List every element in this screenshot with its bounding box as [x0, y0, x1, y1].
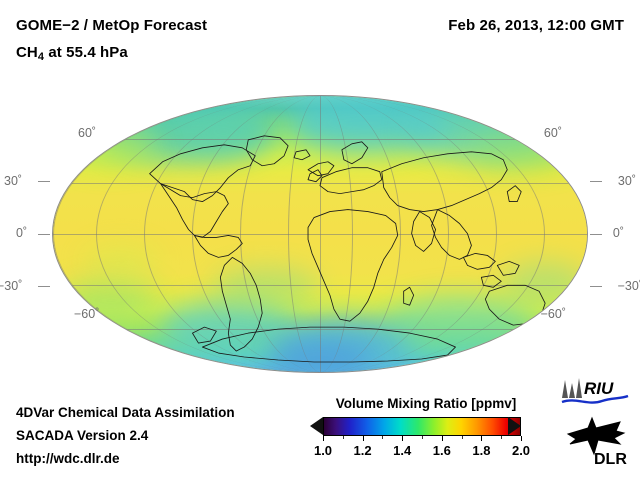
colorbar-ticks: [323, 436, 521, 441]
colorbar-tick-label: 1.4: [393, 443, 411, 458]
mollweide-globe: [52, 95, 588, 373]
colorbar-tick-label: 1.8: [472, 443, 490, 458]
lat-label-30-left: 30˚: [4, 174, 22, 188]
colorbar-tick-major: [402, 436, 403, 441]
colorbar-gradient: [323, 417, 521, 436]
lat-label-0-left: 0˚: [16, 226, 27, 240]
colorbar-tick-major: [323, 436, 324, 441]
lat-label-m30-right: −30˚: [618, 279, 640, 293]
colorbar-bar-row: [310, 417, 550, 439]
lat-label-60-right: 60˚: [544, 126, 562, 140]
lat-tick-30-left: [38, 181, 50, 182]
lat-label-30-right: 30˚: [618, 174, 636, 188]
colorbar-tick-minor: [343, 436, 344, 439]
lat-tick-0-right: [590, 234, 602, 235]
colorbar-tick-minor: [382, 436, 383, 439]
colorbar-tick-minor: [422, 436, 423, 439]
dlr-logo: DLR: [562, 414, 632, 466]
lat-tick-0-left: [38, 234, 50, 235]
map-plot: 60˚ 60˚ −60˚ −60˚ 30˚ 30˚ 0˚ 0˚ −30˚ −30…: [52, 95, 588, 373]
colorbar-extend-max-arrow: [508, 417, 521, 435]
lat-label-60-left: 60˚: [78, 126, 96, 140]
footer-line-method: 4DVar Chemical Data Assimilation: [16, 405, 235, 420]
dlr-logo-text: DLR: [594, 451, 627, 466]
timestamp-label: Feb 26, 2013, 12:00 GMT: [448, 17, 624, 34]
page-title: GOME−2 / MetOp Forecast: [16, 17, 207, 34]
colorbar-extend-min-arrow: [310, 417, 323, 435]
colorbar-tick-major: [363, 436, 364, 441]
riu-logo-text: RIU: [584, 379, 614, 398]
colorbar-tick-label: 1.6: [433, 443, 451, 458]
species-formula: CH: [16, 44, 38, 61]
colorbar-tick-label: 2.0: [512, 443, 530, 458]
lat-label-m30-left: −30˚: [0, 279, 22, 293]
lat-tick-m30-left: [38, 286, 50, 287]
lat-label-0-right: 0˚: [613, 226, 624, 240]
footer-line-url[interactable]: http://wdc.dlr.de: [16, 451, 120, 466]
lat-label-m60-right: −60˚: [541, 307, 566, 321]
colorbar-tick-major: [521, 436, 522, 441]
lat-tick-30-right: [590, 181, 602, 182]
footer-line-version: SACADA Version 2.4: [16, 428, 148, 443]
coastlines: [53, 96, 587, 373]
colorbar-tick-label: 1.2: [354, 443, 372, 458]
lat-label-m60-left: −60˚: [74, 307, 99, 321]
colorbar-tick-labels: 1.01.21.41.61.82.0: [310, 443, 550, 459]
colorbar-tick-major: [442, 436, 443, 441]
riu-logo: RIU: [558, 376, 632, 406]
lat-tick-m30-right: [590, 286, 602, 287]
pressure-level: at 55.4 hPa: [44, 44, 128, 61]
colorbar-tick-label: 1.0: [314, 443, 332, 458]
colorbar: Volume Mixing Ratio [ppmv] 1.01.21.41.61…: [310, 396, 555, 459]
colorbar-tick-minor: [462, 436, 463, 439]
figure-canvas: GOME−2 / MetOp Forecast CH4 at 55.4 hPa …: [0, 0, 640, 480]
species-level-label: CH4 at 55.4 hPa: [16, 44, 128, 63]
colorbar-tick-major: [481, 436, 482, 441]
colorbar-title: Volume Mixing Ratio [ppmv]: [310, 396, 542, 411]
colorbar-tick-minor: [501, 436, 502, 439]
